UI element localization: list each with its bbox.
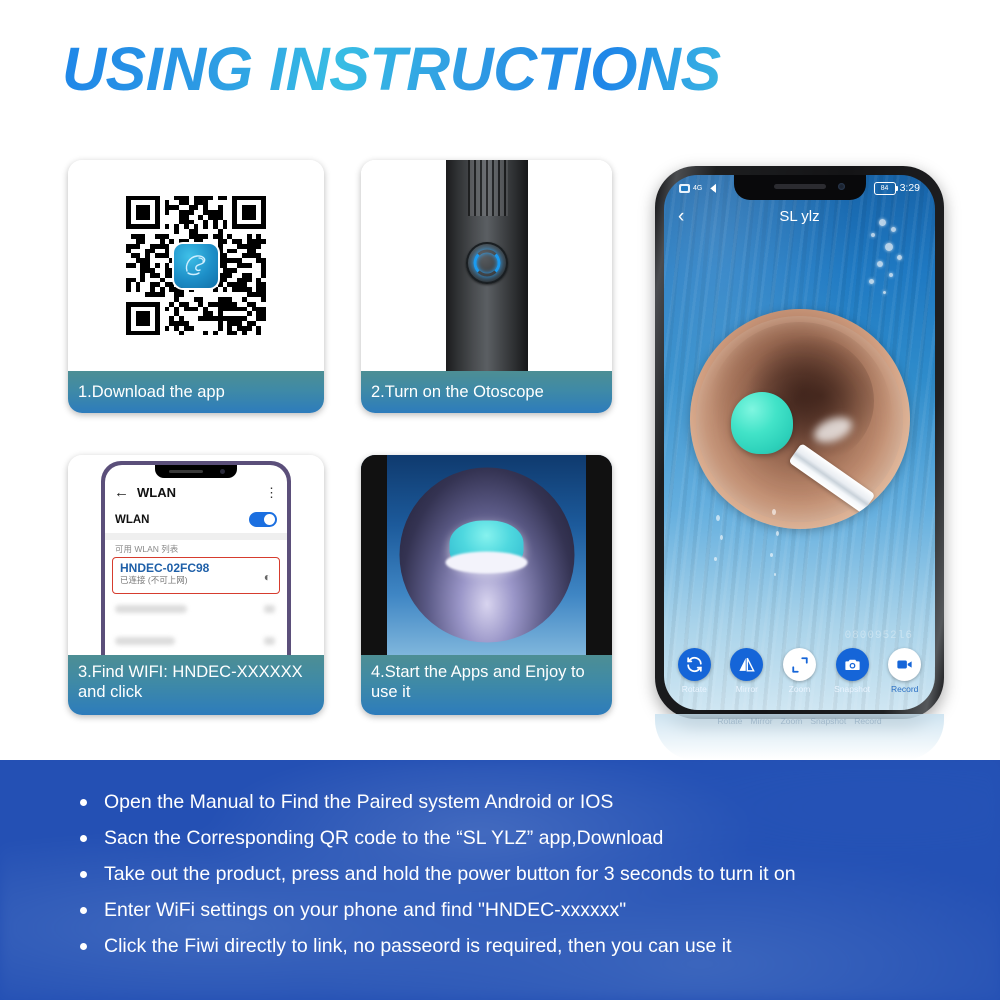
toolbar-label: Rotate	[682, 684, 707, 694]
phone-bezel-left	[361, 455, 387, 655]
toolbar-button-zoom[interactable]: Zoom	[777, 648, 822, 694]
step-card-download-app: 1.Download the app	[68, 160, 324, 413]
sim-card-icon	[679, 184, 690, 193]
otoscope-handle	[446, 160, 528, 371]
toolbar-label: Record	[891, 684, 918, 694]
phone-mockup: 4G 84 3:29 ‹ SL ylz	[655, 166, 944, 719]
step-card-find-wifi: ← WLAN ⋮ WLAN 可用 WLAN 列表 HNDEC-02FC98 已连…	[68, 455, 324, 715]
light-glare	[446, 552, 528, 574]
back-chevron-icon[interactable]: ‹	[678, 207, 684, 226]
network-type-label: 4G	[693, 185, 702, 192]
step-caption: 3.Find WIFI: HNDEC-XXXXXX and click	[68, 655, 324, 715]
instruction-item: Open the Manual to Find the Paired syste…	[80, 784, 1000, 820]
battery-level: 84	[881, 185, 889, 192]
toolbar-button-mirror[interactable]: Mirror	[725, 648, 770, 694]
bubbles-decoration	[849, 217, 911, 307]
overflow-menu-icon[interactable]: ⋮	[265, 486, 278, 499]
wlan-toggle-row[interactable]: WLAN	[105, 506, 287, 533]
instructions-panel: Open the Manual to Find the Paired syste…	[0, 760, 1000, 1000]
endoscope-circle-view	[399, 468, 574, 643]
ear-pick-tip	[731, 392, 793, 454]
qr-code	[126, 196, 266, 336]
instruction-item: Sacn the Corresponding QR code to the “S…	[80, 820, 1000, 856]
wlan-phone-mockup: ← WLAN ⋮ WLAN 可用 WLAN 列表 HNDEC-02FC98 已连…	[101, 461, 291, 655]
status-time: 3:29	[900, 182, 920, 194]
phone-bezel-right	[586, 455, 612, 655]
step-card-turn-on-otoscope: 2.Turn on the Otoscope	[361, 160, 612, 413]
wifi-signal-icon: ◐	[264, 570, 271, 584]
step-card-start-app: 4.Start the Apps and Enjoy to use it	[361, 455, 612, 715]
blurred-network-icon	[264, 637, 275, 645]
wifi-status: 已连接 (不可上网)	[120, 575, 272, 586]
wlan-toggle-label: WLAN	[115, 514, 150, 526]
phone-screen: 4G 84 3:29 ‹ SL ylz	[664, 175, 935, 710]
step-caption: 2.Turn on the Otoscope	[361, 371, 612, 413]
otoscope-camera-view-media	[361, 455, 612, 655]
signal-bars-icon	[705, 184, 716, 193]
phone-reflection: Rotate Mirror Zoom Snapshot Record	[655, 714, 944, 760]
water-droplets-decoration	[710, 505, 830, 615]
instructions-list: Open the Manual to Find the Paired syste…	[0, 760, 1000, 964]
app-title: SL ylz	[779, 208, 819, 225]
reflection-label: Snapshot	[810, 716, 846, 726]
page-title: USING INSTRUCTIONS	[62, 34, 721, 104]
ear-canal-image	[690, 309, 910, 529]
status-bar: 4G 84 3:29	[664, 178, 935, 198]
reflection-label: Mirror	[750, 716, 772, 726]
step-caption: 4.Start the Apps and Enjoy to use it	[361, 655, 612, 715]
wlan-toggle-switch[interactable]	[249, 512, 277, 527]
blurred-network-row	[115, 637, 175, 645]
sl-ylz-app-icon	[174, 244, 218, 288]
toolbar-label: Snapshot	[834, 684, 870, 694]
otoscope-device-media	[361, 160, 612, 371]
mirror-icon	[730, 648, 763, 681]
reflection-label: Record	[854, 716, 881, 726]
power-button[interactable]	[466, 242, 508, 284]
rotate-icon	[678, 648, 711, 681]
wlan-settings-media: ← WLAN ⋮ WLAN 可用 WLAN 列表 HNDEC-02FC98 已连…	[68, 455, 324, 655]
instruction-item: Enter WiFi settings on your phone and fi…	[80, 892, 1000, 928]
reflection-label: Rotate	[717, 716, 742, 726]
toolbar-label: Mirror	[736, 684, 758, 694]
toolbar-label: Zoom	[789, 684, 811, 694]
grip-grooves	[468, 160, 508, 216]
instruction-item: Take out the product, press and hold the…	[80, 856, 1000, 892]
toolbar-button-snapshot[interactable]: Snapshot	[830, 648, 875, 694]
blurred-network-icon	[264, 605, 275, 613]
blurred-network-row	[115, 605, 187, 613]
toolbar-button-rotate[interactable]: Rotate	[672, 648, 717, 694]
video-icon	[888, 648, 921, 681]
back-arrow-icon[interactable]: ←	[114, 485, 129, 500]
power-ring-icon	[473, 250, 500, 277]
video-watermark: 0800952l6	[845, 630, 913, 642]
reflection-label: Zoom	[781, 716, 803, 726]
camera-toolbar: Rotate Mirror Zoom	[664, 648, 935, 694]
notch	[155, 465, 237, 478]
divider	[105, 533, 287, 540]
toolbar-button-record[interactable]: Record	[882, 648, 927, 694]
wifi-network-item[interactable]: HNDEC-02FC98 已连接 (不可上网) ◐	[112, 557, 280, 594]
wlan-screen-title: WLAN	[137, 485, 176, 500]
step-caption: 1.Download the app	[68, 371, 324, 413]
zoom-crop-icon	[783, 648, 816, 681]
available-networks-label: 可用 WLAN 列表	[115, 543, 178, 555]
wifi-ssid: HNDEC-02FC98	[120, 561, 272, 575]
qr-code-media	[68, 160, 324, 371]
camera-icon	[836, 648, 869, 681]
instruction-item: Click the Fiwi directly to link, no pass…	[80, 928, 1000, 964]
battery-icon: 84	[874, 182, 896, 195]
